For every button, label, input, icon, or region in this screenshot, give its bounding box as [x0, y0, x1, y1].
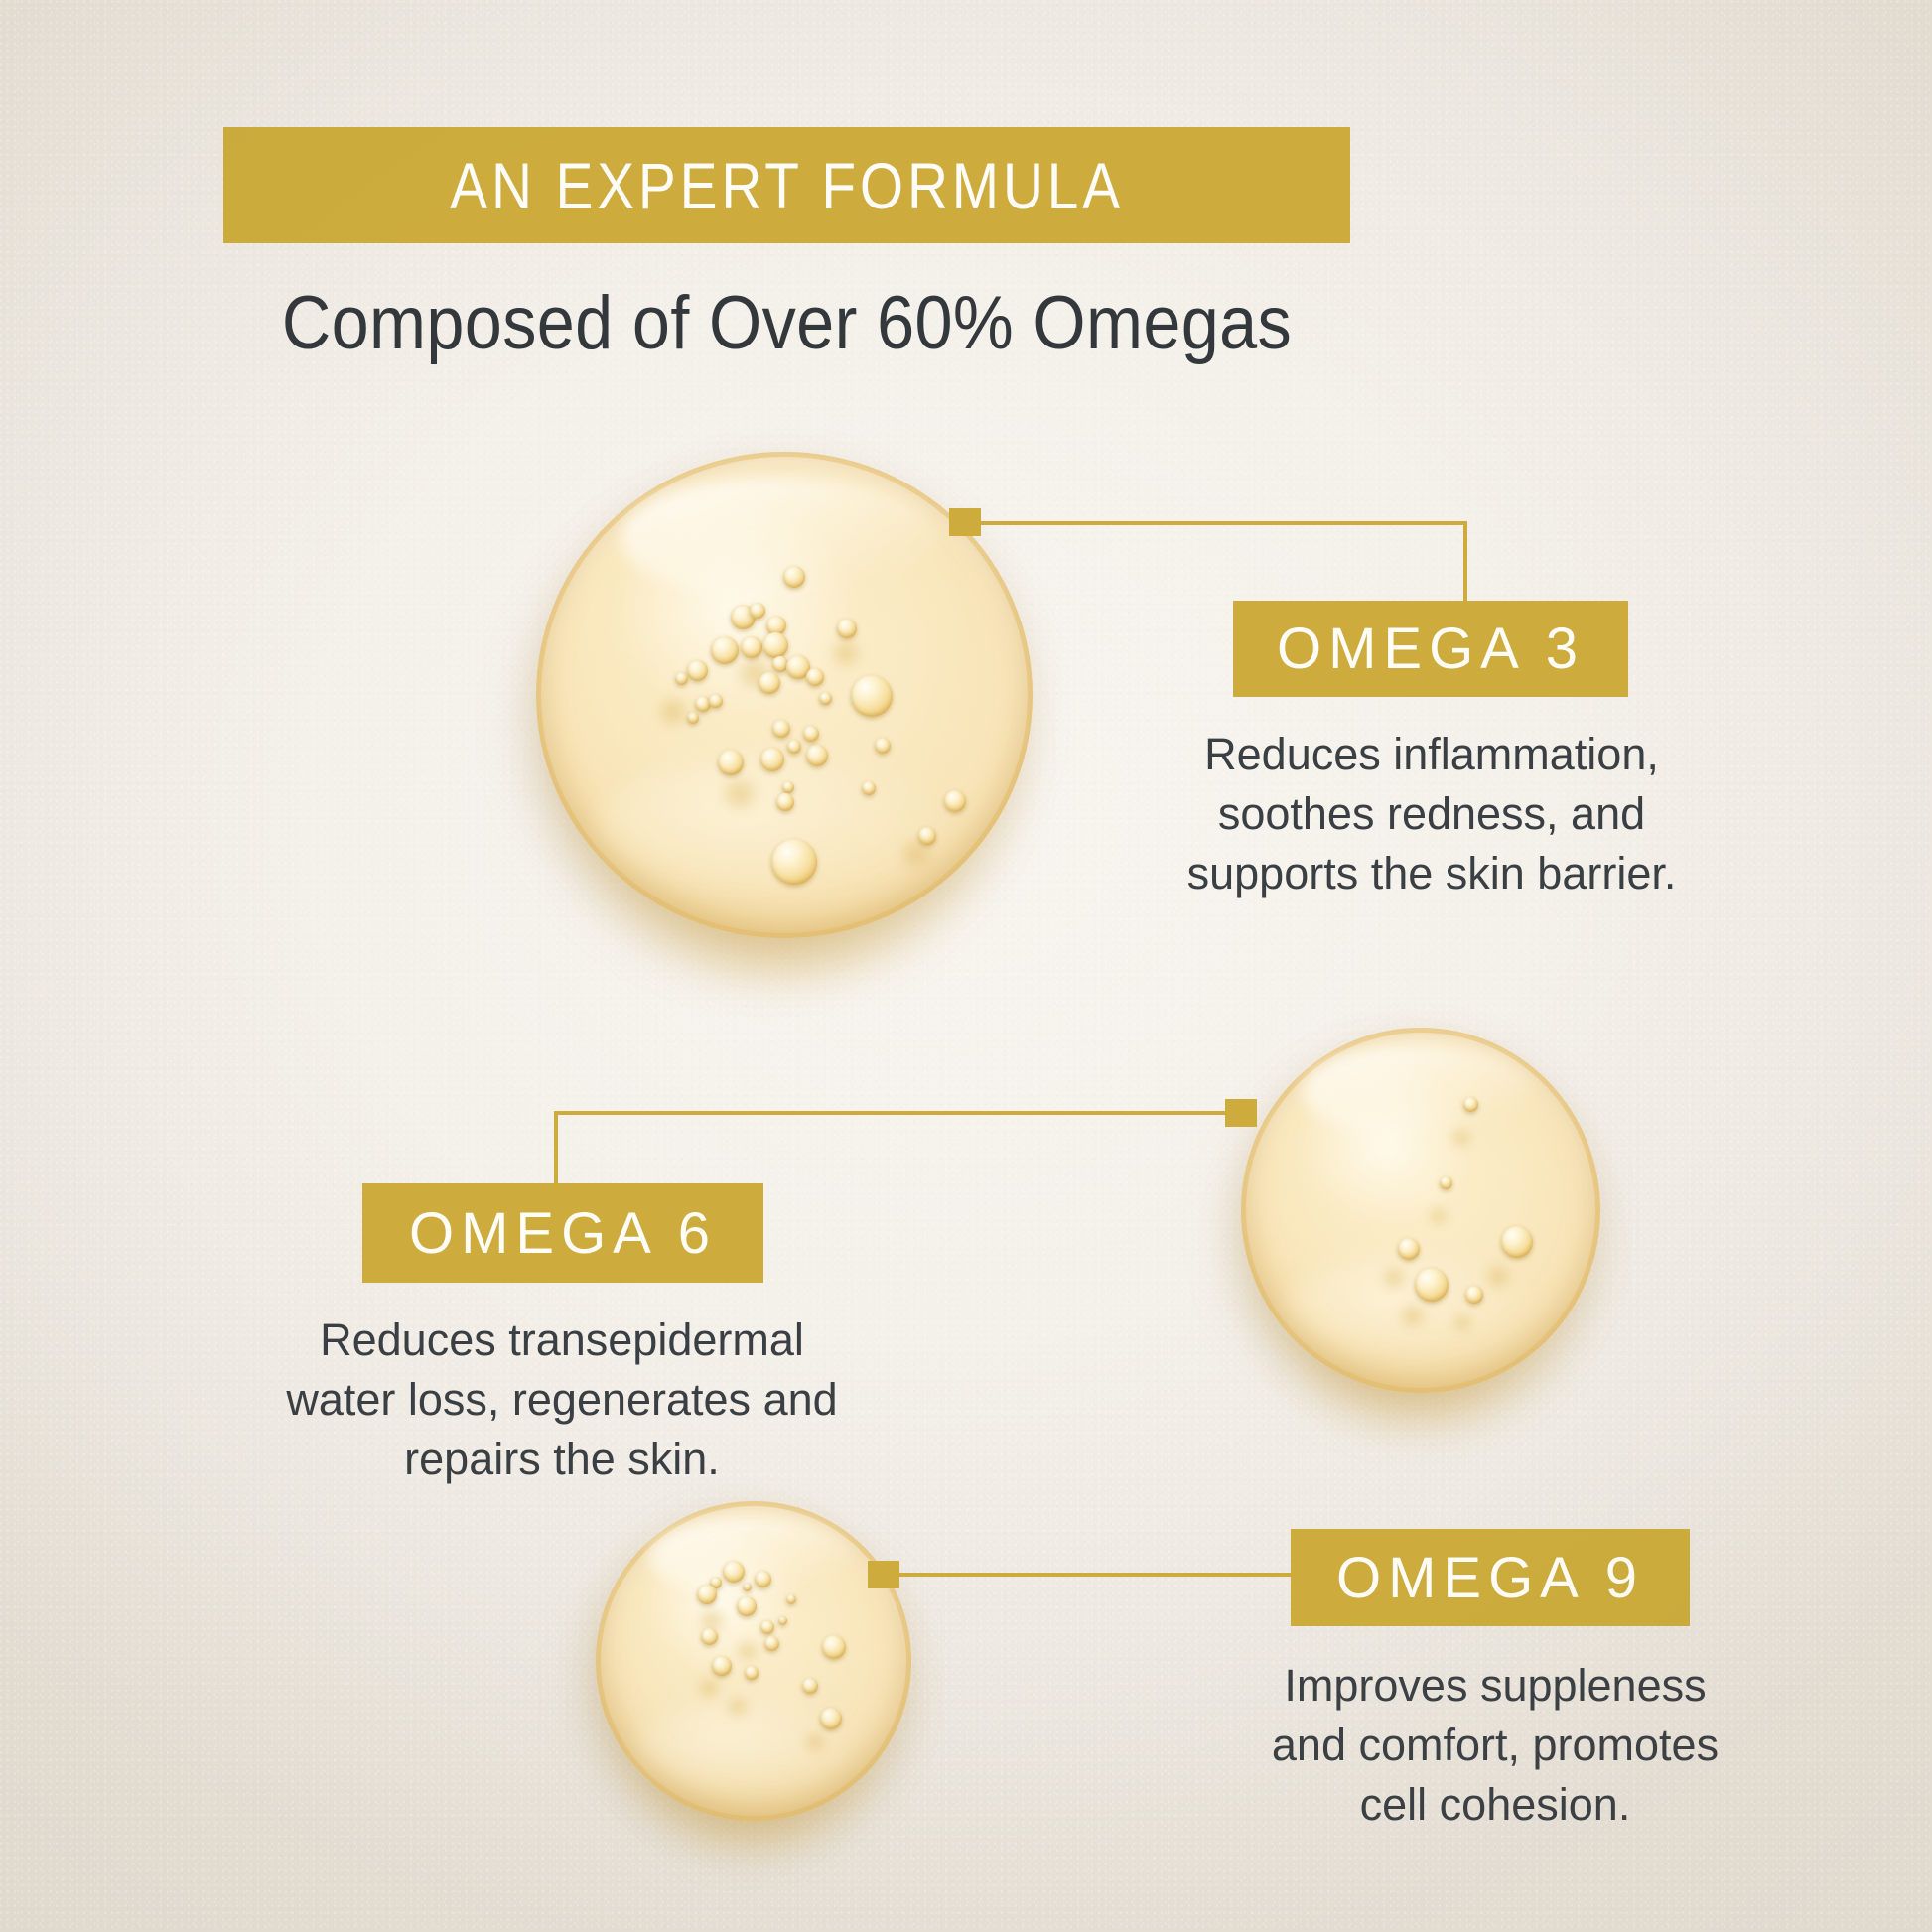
connector-line-omega-9	[892, 1573, 1293, 1577]
bubble-shadow	[1451, 1313, 1473, 1333]
bubble	[755, 1571, 771, 1587]
badge-omega-9-label: OMEGA 9	[1336, 1545, 1644, 1611]
bubble	[771, 839, 817, 885]
bubble	[783, 566, 805, 588]
bubble	[711, 636, 739, 664]
bubble	[675, 672, 688, 685]
badge-omega-9[interactable]: OMEGA 9	[1291, 1529, 1690, 1626]
badge-omega-3-label: OMEGA 3	[1277, 616, 1585, 682]
description-omega-3: Reduces inflammation, soothes redness, a…	[1170, 725, 1694, 903]
header-banner: AN EXPERT FORMULA	[223, 127, 1350, 243]
bubble	[806, 668, 824, 686]
bubble	[819, 692, 832, 705]
bubble-shadow	[1398, 1304, 1428, 1329]
bubble	[697, 1585, 717, 1604]
bubble	[743, 1583, 752, 1591]
connector-anchor-omega-3	[949, 508, 981, 536]
bubble-shadow	[1449, 1127, 1473, 1149]
bubble	[759, 672, 780, 694]
bubble	[802, 1678, 818, 1694]
bubble	[741, 636, 762, 658]
description-omega-6: Reduces transepidermal water loss, regen…	[268, 1311, 856, 1489]
description-omega-9: Improves suppleness and comfort, promote…	[1243, 1656, 1747, 1835]
droplet-lower-highlight	[596, 754, 953, 899]
connector-drop-omega-3	[1463, 521, 1467, 601]
bubble	[701, 1628, 718, 1645]
bubble	[712, 1656, 732, 1676]
bubble	[723, 1561, 745, 1583]
badge-omega-3[interactable]: OMEGA 3	[1233, 601, 1628, 697]
bubble-shadow	[1428, 1206, 1449, 1226]
bubble	[1398, 1238, 1420, 1260]
bubble	[776, 793, 794, 811]
infographic-canvas: AN EXPERT FORMULA Composed of Over 60% O…	[0, 0, 1932, 1932]
bubble	[687, 660, 708, 681]
bubble	[750, 603, 765, 619]
bubble	[745, 1666, 759, 1680]
bubble	[806, 745, 828, 766]
bubble	[760, 748, 784, 771]
bubble-shadow	[829, 638, 863, 668]
bubble	[762, 632, 788, 658]
bubble-shadow	[720, 777, 759, 811]
bubble	[782, 781, 794, 793]
bubble-shadow	[695, 1676, 723, 1700]
bubble	[944, 790, 966, 812]
droplet-highlight	[621, 477, 938, 603]
bubble	[851, 675, 893, 717]
bubble	[1415, 1268, 1449, 1302]
oil-droplet-small	[596, 1501, 911, 1821]
page-subtitle: Composed of Over 60% Omegas	[78, 280, 1495, 366]
bubble-shadow	[1483, 1264, 1513, 1290]
bubble	[718, 750, 744, 775]
bubble	[772, 720, 790, 738]
badge-omega-6-label: OMEGA 6	[409, 1200, 717, 1267]
bubble	[1463, 1097, 1478, 1112]
bubble	[778, 1616, 787, 1625]
bubble	[787, 740, 801, 754]
badge-omega-6[interactable]: OMEGA 6	[362, 1183, 763, 1283]
bubble-shadow	[725, 1696, 751, 1718]
bubble	[875, 738, 891, 754]
bubble	[709, 694, 723, 708]
bubble-shadow	[735, 1640, 760, 1662]
bubble	[820, 1708, 842, 1729]
bubble	[737, 1596, 757, 1616]
bubble	[837, 619, 857, 638]
droplet-highlight	[1303, 1045, 1533, 1141]
bubble	[786, 1594, 796, 1604]
bubble-shadow	[898, 839, 934, 869]
bubble	[822, 1635, 846, 1659]
bubble	[1501, 1226, 1533, 1258]
bubble	[803, 726, 819, 742]
bubble-shadow	[802, 1731, 828, 1753]
connector-drop-omega-6	[554, 1111, 558, 1185]
bubble-shadow	[1380, 1266, 1408, 1290]
bubble	[764, 1636, 779, 1651]
bubble	[760, 1620, 774, 1634]
connector-line-omega-3	[961, 521, 1467, 525]
connector-line-omega-6	[554, 1111, 1239, 1115]
bubble	[1465, 1286, 1483, 1304]
bubble	[1440, 1176, 1452, 1189]
banner-title: AN EXPERT FORMULA	[450, 148, 1124, 223]
oil-droplet-medium	[1241, 1028, 1600, 1393]
bubble	[862, 781, 876, 795]
bubble-shadow	[655, 696, 691, 728]
